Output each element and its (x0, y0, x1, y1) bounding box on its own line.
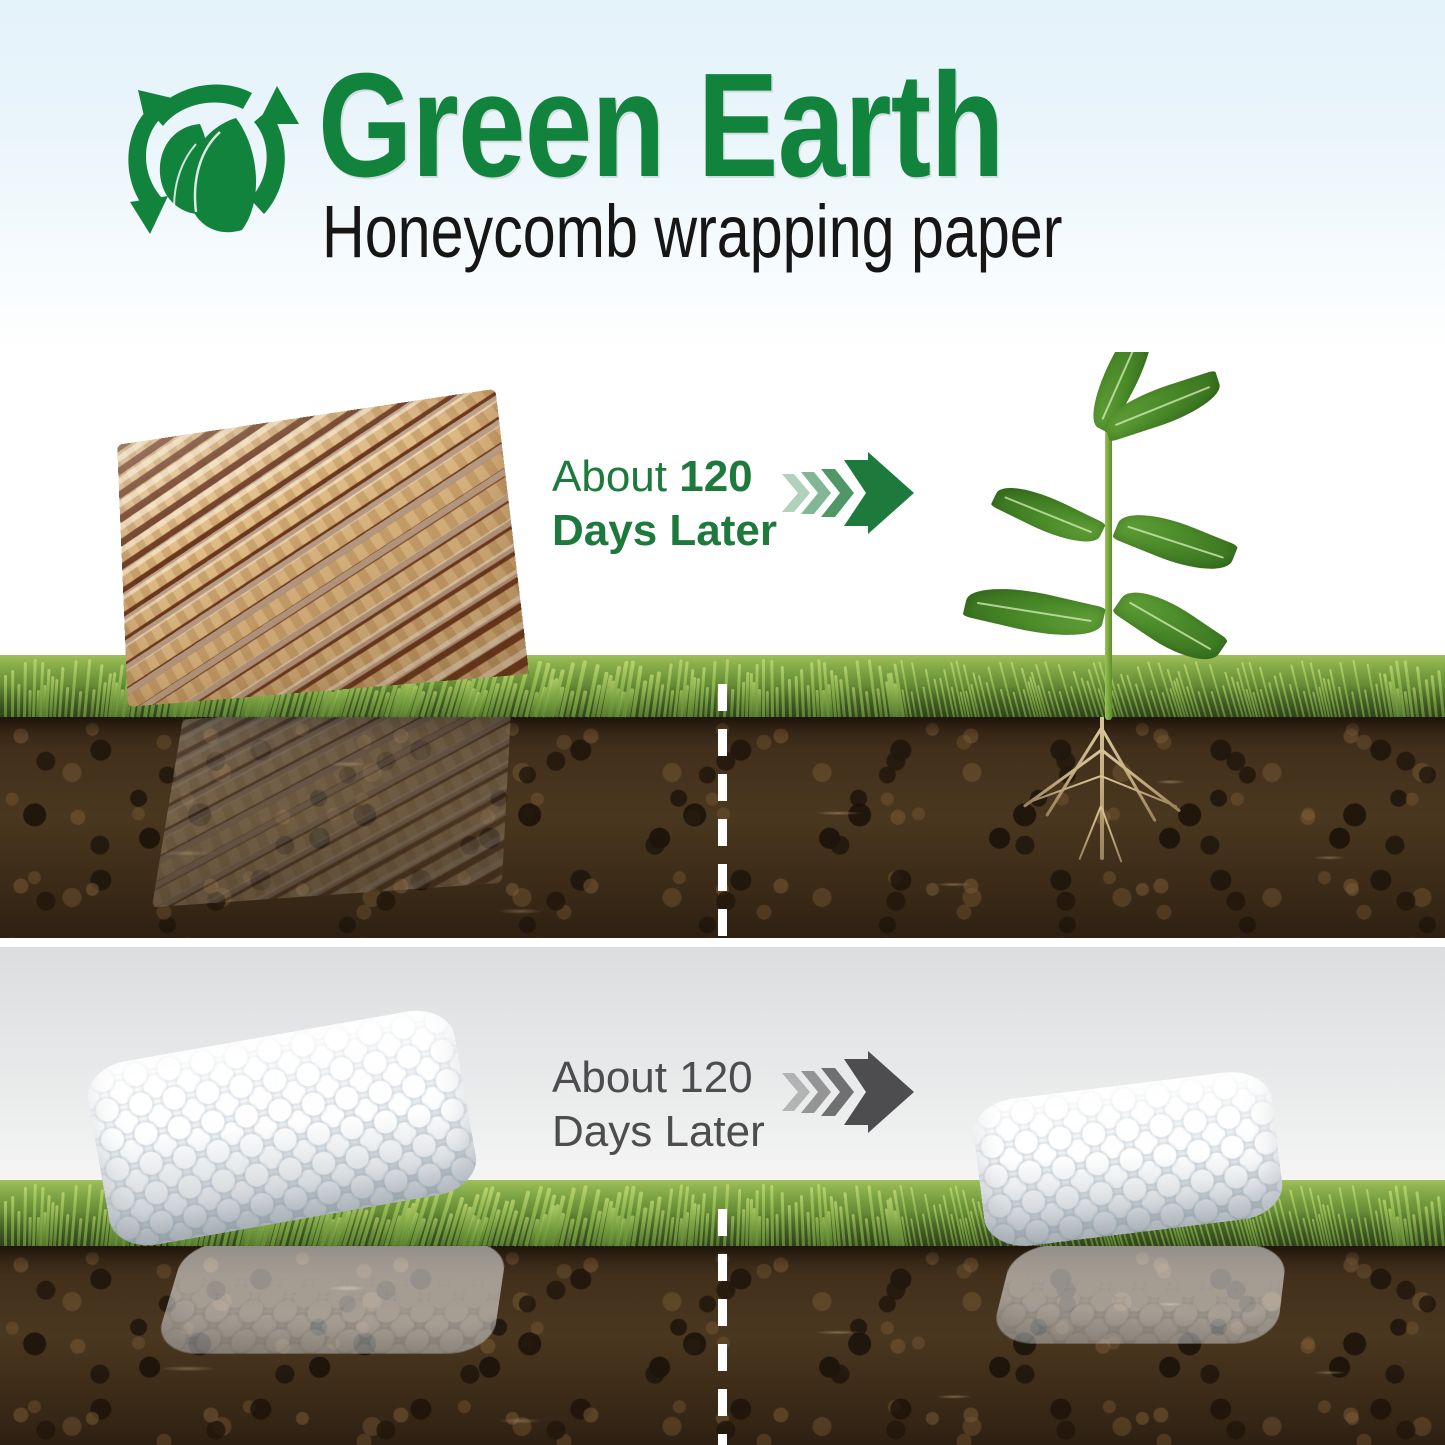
product-infographic: Green Earth Honeycomb wrapping paper (0, 0, 1445, 1445)
buried-plastic-bubble-wrap-left (153, 1241, 508, 1353)
recycle-leaf-logo-icon (100, 62, 312, 260)
plant-leaf (963, 577, 1106, 647)
plastic-bubble-wrap-panel: About 120 Days Later (0, 947, 1445, 1445)
grass-blade (1437, 1196, 1445, 1246)
honeycomb-paper-panel: About 120 Days Later (0, 352, 1445, 938)
grass-blade (770, 1185, 774, 1246)
grass-blade (730, 689, 735, 717)
grass-blade (736, 664, 741, 717)
grass-blade (1437, 670, 1445, 717)
grass-blade (1424, 1206, 1431, 1246)
grass-blade (64, 1214, 70, 1246)
grass-blade (865, 691, 871, 717)
grass-blade (1431, 675, 1438, 717)
grass-blade (781, 1192, 785, 1246)
buried-plastic-bubble-wrap-right (989, 1245, 1287, 1344)
grass-blade (736, 1189, 741, 1246)
grass-blade (762, 659, 765, 717)
callout-bottom: About 120 Days Later (552, 1051, 912, 1161)
grass-blade (77, 1218, 83, 1246)
grass-blade (23, 1187, 27, 1246)
grass-blade (1351, 1218, 1359, 1246)
grass-blade (28, 690, 32, 717)
grass-blade (11, 1196, 14, 1246)
green-seedling (960, 372, 1260, 722)
grass-blade (730, 1216, 735, 1246)
grass-blade (851, 1214, 857, 1246)
grass-blade (1339, 662, 1352, 717)
grass-blade (1364, 689, 1371, 717)
grass-blade (28, 1217, 32, 1246)
plant-stem (1105, 402, 1112, 720)
grass-blade (11, 670, 14, 717)
grass-blade (766, 1218, 769, 1246)
decomposing-honeycomb-paper (152, 698, 512, 907)
callout-prefix: About (552, 1053, 679, 1102)
panel-separator (0, 938, 1445, 947)
grass-blade (1430, 1201, 1437, 1246)
callout-days-value: 120 (679, 1053, 752, 1102)
plant-leaf (1112, 501, 1238, 583)
grass-blade (806, 1212, 810, 1246)
vertical-dashed-divider (718, 684, 727, 938)
grass-blade (704, 1213, 709, 1246)
grass-blade (788, 1205, 792, 1246)
grass-blade (17, 684, 20, 717)
grass-blade (77, 691, 83, 717)
grass-blade (788, 679, 792, 717)
grass-blade (4, 1201, 7, 1246)
grass-blade (800, 669, 805, 717)
grass-blade (762, 1184, 765, 1246)
plant-leaf (1112, 577, 1228, 674)
callout-days-value: 120 (679, 452, 752, 501)
plant-root-system (1008, 710, 1198, 895)
header-banner: Green Earth Honeycomb wrapping paper (0, 0, 1445, 352)
callout-line2: Days Later (552, 504, 912, 558)
grass-blade (64, 687, 70, 717)
grass-blade (17, 1211, 20, 1246)
grass-blade (770, 660, 774, 717)
grass-blade (1364, 1217, 1372, 1246)
grass-blade (23, 662, 27, 717)
callout-prefix: About (552, 452, 679, 501)
grass-blade (794, 1202, 798, 1246)
plant-leaf (990, 475, 1106, 555)
callout-top: About 120 Days Later (552, 450, 912, 560)
grass-blade (1351, 691, 1358, 717)
grass-blade (781, 666, 785, 717)
grass-blade (1424, 679, 1431, 717)
grass-blade (806, 685, 810, 717)
grass-blade (1279, 672, 1292, 717)
grass-blade (776, 687, 779, 717)
grass-blade (766, 691, 769, 717)
grass-blade (1338, 1187, 1352, 1246)
grass-blade (4, 675, 7, 717)
recycle-leaf-logo (100, 62, 312, 260)
brand-title: Green Earth (318, 58, 1138, 193)
grass-blade (704, 687, 709, 717)
callout-line2: Days Later (552, 1105, 912, 1159)
grass-blade (865, 1218, 871, 1246)
grass-blade (794, 676, 798, 717)
grass-blade (800, 1195, 805, 1246)
brand-subtitle: Honeycomb wrapping paper (322, 192, 1218, 272)
grass-blade (852, 687, 858, 717)
grass-blade (776, 1214, 779, 1246)
honeycomb-wrapping-paper-sheet (117, 389, 529, 707)
vertical-dashed-divider (718, 1209, 727, 1445)
